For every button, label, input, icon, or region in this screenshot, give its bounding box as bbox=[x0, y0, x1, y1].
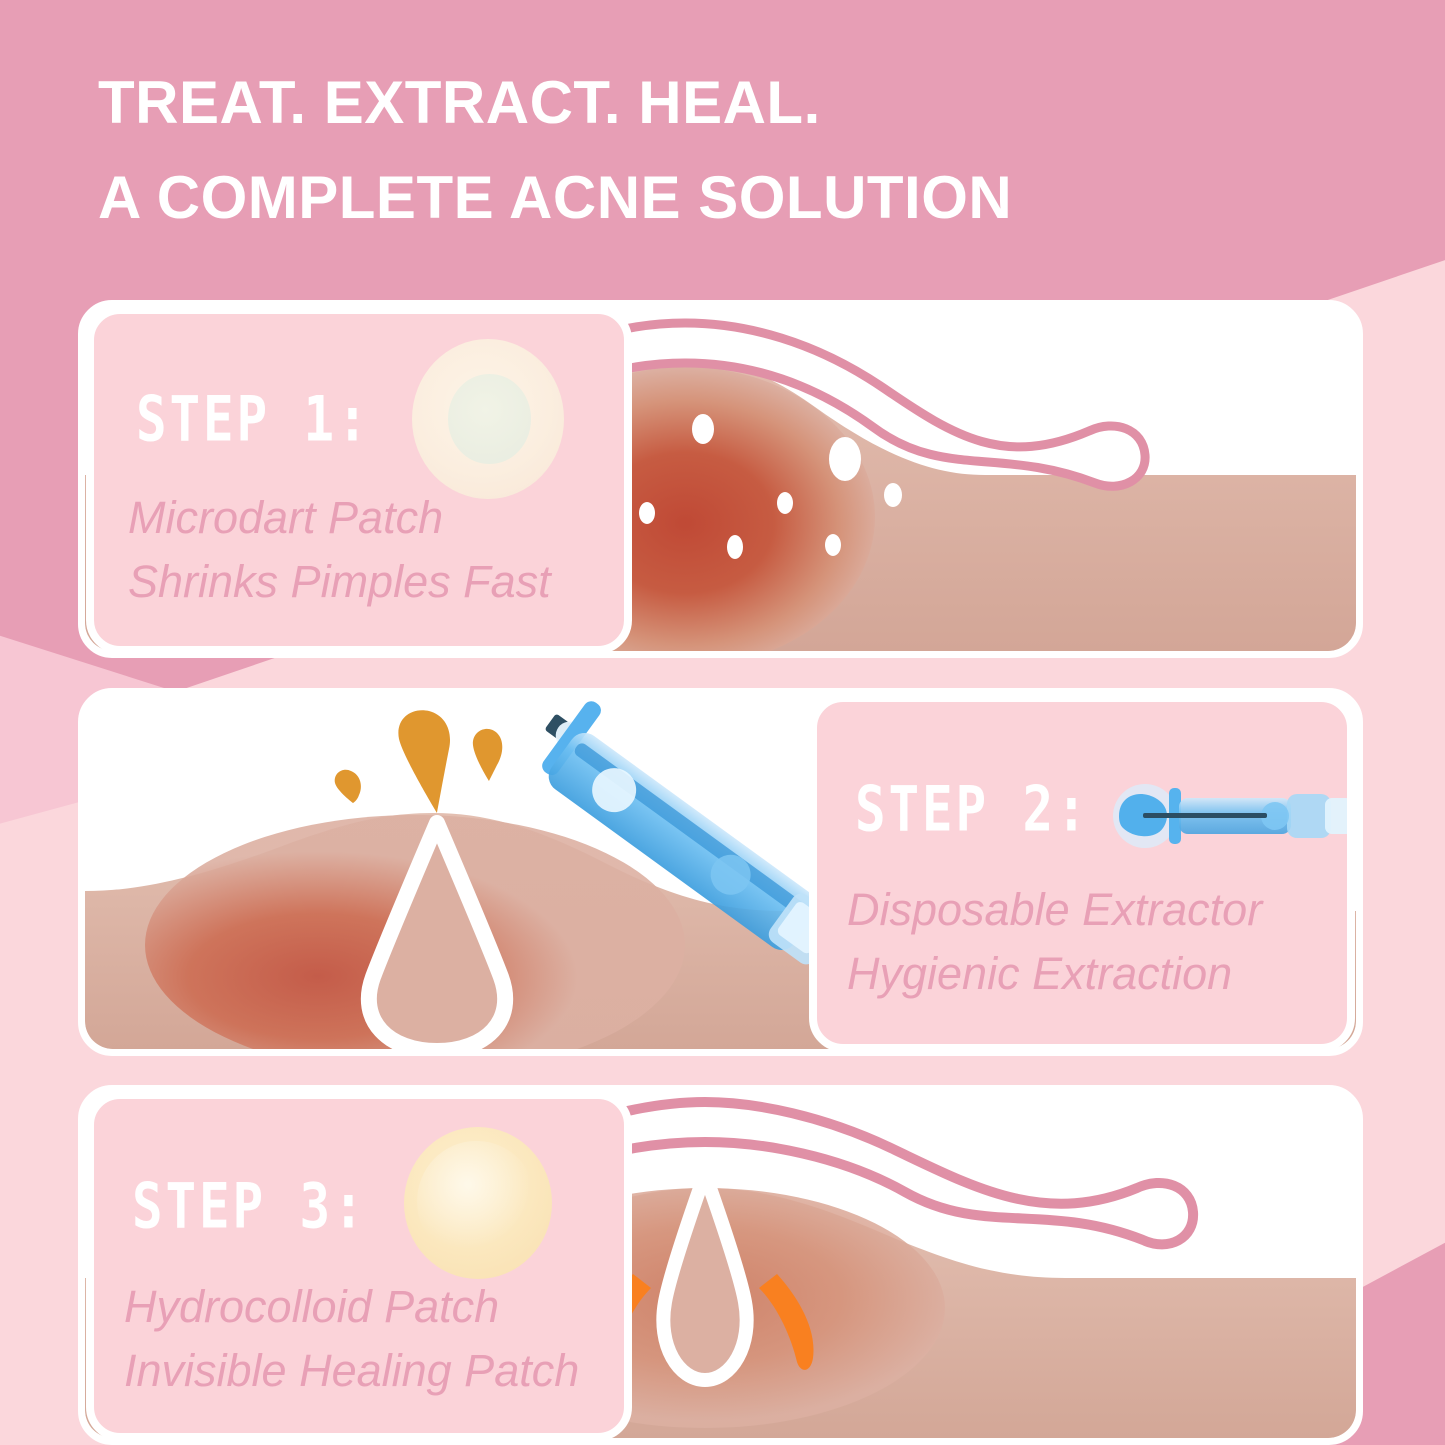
microdart-patch-circle-icon bbox=[412, 339, 564, 499]
step-3-row: STEP 3: Hydrocolloid Patch Invisible Hea… bbox=[78, 1085, 1363, 1445]
headline-line-1: TREAT. EXTRACT. HEAL. bbox=[98, 56, 1278, 151]
step-3-text-panel: STEP 3: Hydrocolloid Patch Invisible Hea… bbox=[86, 1091, 632, 1441]
step-3-label: STEP 3: bbox=[132, 1171, 367, 1243]
page-title: TREAT. EXTRACT. HEAL. A COMPLETE ACNE SO… bbox=[98, 56, 1278, 246]
step-1-description-line-1: Microdart Patch bbox=[128, 486, 551, 550]
step-2-description: Disposable Extractor Hygienic Extraction bbox=[847, 878, 1262, 1006]
step-2-row: STEP 2: bbox=[78, 688, 1363, 1056]
step-1-text-panel: STEP 1: Microdart Patch Shrinks Pimples … bbox=[86, 306, 632, 654]
step-2-description-line-2: Hygienic Extraction bbox=[847, 942, 1262, 1006]
step-1-description: Microdart Patch Shrinks Pimples Fast bbox=[128, 486, 551, 614]
disposable-extractor-lancet-icon bbox=[1107, 776, 1355, 856]
step-3-description: Hydrocolloid Patch Invisible Healing Pat… bbox=[124, 1275, 579, 1403]
step-1-row: STEP 1: Microdart Patch Shrinks Pimples … bbox=[78, 300, 1363, 658]
step-2-description-line-1: Disposable Extractor bbox=[847, 878, 1262, 942]
step-3-description-line-1: Hydrocolloid Patch bbox=[124, 1275, 579, 1339]
infographic-stage: TREAT. EXTRACT. HEAL. A COMPLETE ACNE SO… bbox=[0, 0, 1445, 1445]
step-3-description-line-2: Invisible Healing Patch bbox=[124, 1339, 579, 1403]
step-2-label: STEP 2: bbox=[855, 774, 1090, 846]
hydrocolloid-patch-circle-icon bbox=[404, 1127, 552, 1279]
step-1-label: STEP 1: bbox=[136, 384, 371, 456]
step-1-description-line-2: Shrinks Pimples Fast bbox=[128, 550, 551, 614]
headline-line-2: A COMPLETE ACNE SOLUTION bbox=[98, 151, 1278, 246]
step-2-text-panel: STEP 2: bbox=[809, 694, 1355, 1052]
